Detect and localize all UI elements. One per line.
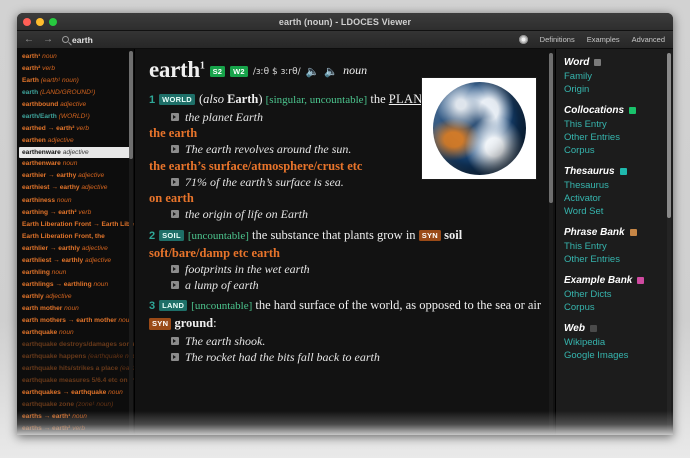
word-list-item-headword: earthly	[22, 293, 44, 300]
word-list-item[interactable]: earth¹ noun	[17, 51, 134, 63]
word-list-item[interactable]: earthbound adjective	[17, 99, 134, 111]
play-example-icon[interactable]	[171, 265, 179, 273]
word-list-item-headword: earthing → earth²	[22, 209, 77, 216]
word-list-item-selected[interactable]: earthenware adjective	[19, 147, 130, 158]
example-text: footprints in the wet earth	[185, 261, 310, 277]
sidebar-scrollbar[interactable]	[129, 51, 133, 433]
sidebar-scrollbar-thumb[interactable]	[129, 51, 133, 159]
word-list-item-pos: adjective	[58, 101, 86, 108]
collocation: soft/bare/damp etc earth	[149, 245, 545, 261]
word-list-item-headword: earth/Earth	[22, 113, 57, 120]
pronunciation: /ɜːθ $ ɜːrθ/	[253, 67, 301, 77]
word-list-item-pos: adjective	[76, 172, 104, 179]
word-list-item-pos: (earth¹ noun)	[39, 77, 79, 84]
resource-group-title: Example Bank	[564, 275, 673, 286]
resource-link[interactable]: Other Dicts	[564, 288, 673, 301]
word-list-item[interactable]: earth mothers → earth mother noun	[17, 315, 134, 327]
play-example-icon[interactable]	[171, 145, 179, 153]
content-scrollbar[interactable]	[549, 53, 553, 431]
word-list-item-headword: earthliest → earthly	[22, 257, 83, 264]
resource-groups: WordFamilyOriginCollocationsThis EntryOt…	[564, 57, 673, 362]
word-list-item-headword: earthquake zone	[22, 401, 74, 408]
word-list-item[interactable]: earth² verb	[17, 63, 134, 75]
word-list-item-pos: verb	[77, 209, 92, 216]
word-list-item[interactable]: earth/Earth (WORLD¹)	[17, 111, 134, 123]
word-list-item[interactable]: Earth Liberation Front, the	[17, 231, 134, 243]
word-list-item[interactable]: earthly adjective	[17, 291, 134, 303]
word-list-item-headword: earthiness	[22, 197, 55, 204]
word-list-item[interactable]: earthiness noun	[17, 195, 134, 207]
toolbar-right: Definitions Examples Advanced	[519, 35, 665, 44]
word-list-item-headword: earthlings → earthling	[22, 281, 92, 288]
window-title: earth (noun) - LDOCES Viewer	[17, 13, 673, 31]
sense-number: 2	[149, 230, 155, 242]
word-list-item-pos: noun	[106, 389, 123, 396]
word-list-item-pos: verb	[40, 65, 55, 72]
word-list-item-headword: earth²	[22, 65, 40, 72]
word-list-item[interactable]: earths → earth² verb	[17, 423, 134, 435]
word-list-item-headword: Earth	[22, 77, 39, 84]
resource-link[interactable]: Corpus	[564, 301, 673, 314]
sense-number: 1	[149, 94, 155, 106]
example-sentence: The earth shook.	[171, 333, 545, 349]
word-list-item[interactable]: earthquakes → earthquake noun	[17, 387, 134, 399]
sense-number: 3	[149, 300, 155, 312]
maximize-button[interactable]	[49, 18, 57, 26]
word-list-item[interactable]: earthlings → earthling noun	[17, 279, 134, 291]
word-list-item-headword: earthier → earthy	[22, 172, 76, 179]
app-window: earth (noun) - LDOCES Viewer ← → earth D…	[17, 13, 673, 435]
resource-link[interactable]: Other Entries	[564, 131, 673, 144]
search-input-value[interactable]: earth	[72, 35, 93, 45]
word-list-item[interactable]: earth mother noun	[17, 303, 134, 315]
minimize-button[interactable]	[36, 18, 44, 26]
resource-link[interactable]: Activator	[564, 192, 673, 205]
resource-group-swatch-icon	[629, 107, 636, 114]
word-list-item[interactable]: earthquake destroys/damages something	[17, 339, 134, 351]
play-example-icon[interactable]	[171, 281, 179, 289]
word-list-item-headword: earthquake measures 5/6.4 etc on the R	[22, 377, 134, 384]
word-list-item-pos: noun	[57, 329, 74, 336]
resource-link[interactable]: Other Entries	[564, 253, 673, 266]
resource-group-swatch-icon	[590, 325, 597, 332]
sense-topic-label: LAND	[159, 300, 187, 311]
word-list-item-headword: earthquakes → earthquake	[22, 389, 106, 396]
word-list-item-pos: verb	[70, 425, 85, 432]
word-list-item-pos: adjective	[61, 149, 89, 156]
resource-group-swatch-icon	[637, 277, 644, 284]
word-list-item-pos: noun	[92, 281, 109, 288]
resource-link[interactable]: Word Set	[564, 205, 673, 218]
resource-group-title: Collocations	[564, 105, 673, 116]
example-text: 71% of the earth’s surface is sea.	[185, 174, 344, 190]
word-list-item-pos: adjective	[46, 137, 74, 144]
window-controls	[23, 18, 57, 26]
word-list-item-pos: (earthquake noun)	[86, 353, 134, 360]
word-list-item-pos: noun	[61, 160, 78, 167]
resource-group-label: Collocations	[564, 105, 624, 116]
resource-group-label: Web	[564, 323, 585, 334]
entry-content: earth1 S2 W2 /ɜːθ $ ɜːrθ/ 🔈 🔈 noun 1 WOR…	[135, 49, 555, 435]
resource-group-swatch-icon	[620, 168, 627, 175]
example-text: the origin of life on Earth	[185, 206, 308, 222]
word-list-item-pos: adjective	[83, 257, 111, 264]
resources-panel: WordFamilyOriginCollocationsThis EntryOt…	[555, 49, 673, 435]
title-bar: earth (noun) - LDOCES Viewer	[17, 13, 673, 31]
example-sentence: the origin of life on Earth	[171, 206, 545, 222]
sense-topic-label: WORLD	[159, 94, 195, 105]
badge-s2: S2	[210, 66, 226, 77]
sense-grammar: [uncountable]	[191, 300, 252, 312]
word-list-item[interactable]: earthiest → earthy adjective	[17, 182, 134, 194]
word-list-item-headword: earth	[22, 89, 38, 96]
word-list-item[interactable]: earthquake hits/strikes a place (earthqu…	[17, 363, 134, 375]
word-list-item-headword: earths → earth¹	[22, 413, 70, 420]
resource-group-label: Example Bank	[564, 275, 632, 286]
word-list-item-headword: earthen	[22, 137, 46, 144]
panel-scrollbar-thumb[interactable]	[667, 53, 671, 218]
word-list-item-headword: earthling	[22, 269, 50, 276]
example-sentence: a lump of earth	[171, 277, 545, 293]
word-list-item-headword: earthiest → earthy	[22, 184, 80, 191]
resource-link[interactable]: Google Images	[564, 349, 673, 362]
word-list-item[interactable]: earthquake zone (zone¹ noun)	[17, 399, 134, 411]
word-list-item-pos: adjective	[80, 245, 108, 252]
play-example-icon[interactable]	[171, 113, 179, 121]
word-list-item-headword: earthenware	[22, 149, 61, 156]
word-list-item[interactable]: earthenware noun	[17, 158, 134, 170]
example-text: the planet Earth	[185, 109, 263, 125]
resource-link[interactable]: This Entry	[564, 240, 673, 253]
resource-link[interactable]: Origin	[564, 83, 673, 96]
word-list-item[interactable]: earthquake measures 5/6.4 etc on the R	[17, 375, 134, 387]
word-list-item-headword: earthquake destroys/damages something	[22, 341, 134, 348]
word-list-item-headword: earthed → earth²	[22, 125, 74, 132]
play-example-icon[interactable]	[171, 178, 179, 186]
resource-group-title: Thesaurus	[564, 166, 673, 177]
resource-link[interactable]: Wikipedia	[564, 336, 673, 349]
forward-arrow-icon[interactable]: →	[43, 35, 53, 45]
sense: 2 SOIL [uncountable] the substance that …	[149, 226, 545, 294]
word-list-item-pos: adjective	[44, 293, 72, 300]
entry-image	[421, 77, 537, 180]
word-list-item[interactable]: earthed → earth² verb	[17, 123, 134, 135]
example-text: The earth shook.	[185, 333, 265, 349]
toolbar: ← → earth Definitions Examples Advanced	[17, 31, 673, 49]
earth-globe-photo	[433, 82, 526, 175]
resource-group: Phrase BankThis EntryOther Entries	[564, 227, 673, 266]
word-list-sidebar[interactable]: earth¹ nounearth² verbEarth (earth¹ noun…	[17, 49, 135, 435]
back-arrow-icon[interactable]: ←	[24, 35, 34, 45]
resource-group-title: Word	[564, 57, 673, 68]
word-list-item-headword: earthquake hits/strikes a place	[22, 365, 118, 372]
headword: earth1	[149, 57, 205, 83]
resource-group-swatch-icon	[594, 59, 601, 66]
resource-group: WordFamilyOrigin	[564, 57, 673, 96]
nav-buttons: ← →	[24, 35, 53, 45]
resource-group-label: Phrase Bank	[564, 227, 625, 238]
example-text: a lump of earth	[185, 277, 259, 293]
search-icon	[62, 36, 69, 43]
toolbar-link-advanced[interactable]: Advanced	[632, 35, 665, 44]
panel-scrollbar[interactable]	[667, 53, 671, 431]
resource-group: WebWikipediaGoogle Images	[564, 323, 673, 362]
play-example-icon[interactable]	[171, 210, 179, 218]
word-list-item-headword: earthlier → earthly	[22, 245, 80, 252]
word-list-item-pos: (zone¹ noun)	[74, 401, 113, 408]
sense-header: 3 LAND [uncountable] the hard surface of…	[149, 296, 545, 332]
sense-header: 2 SOIL [uncountable] the substance that …	[149, 226, 545, 244]
word-list-item-pos: noun	[50, 269, 67, 276]
example-text: The earth revolves around the sun.	[185, 141, 351, 157]
word-list-item-headword: Earth Liberation Front → Earth Liberati	[22, 221, 134, 228]
word-list-item-headword: earth mothers → earth mother	[22, 317, 117, 324]
sense-grammar: [uncountable]	[188, 230, 249, 242]
gear-icon[interactable]	[519, 35, 528, 44]
resource-group: CollocationsThis EntryOther EntriesCorpu…	[564, 105, 673, 157]
word-list-item[interactable]: earthquake happens (earthquake noun)	[17, 351, 134, 363]
example-text: The rocket had the bits fall back to ear…	[185, 349, 380, 365]
word-list-item-headword: earthbound	[22, 101, 58, 108]
example-sentence: footprints in the wet earth	[171, 261, 545, 277]
word-list-item-pos: verb	[74, 125, 89, 132]
word-list-item-headword: earth¹	[22, 53, 40, 60]
resource-group: Example BankOther DictsCorpus	[564, 275, 673, 314]
word-list-item-headword: earthquake happens	[22, 353, 86, 360]
word-list-item[interactable]: earthliest → earthly adjective	[17, 255, 134, 267]
search-field[interactable]: earth	[62, 35, 93, 45]
window-body: earth¹ nounearth² verbEarth (earth¹ noun…	[17, 49, 673, 435]
resource-group-swatch-icon	[630, 229, 637, 236]
word-list-item-pos: adjective	[80, 184, 108, 191]
word-list-item[interactable]: Earth (earth¹ noun)	[17, 75, 134, 87]
toolbar-link-examples[interactable]: Examples	[587, 35, 620, 44]
word-list-item[interactable]: earthier → earthy adjective	[17, 170, 134, 182]
word-list-item-headword: earth mother	[22, 305, 62, 312]
resource-group-title: Web	[564, 323, 673, 334]
word-list-item[interactable]: earthing → earth² verb	[17, 207, 134, 219]
content-scrollbar-thumb[interactable]	[549, 53, 553, 203]
word-list[interactable]: earth¹ nounearth² verbEarth (earth¹ noun…	[17, 51, 134, 435]
sense-definition: [uncountable] the substance that plants …	[188, 228, 462, 242]
word-list-item-headword: Earth Liberation Front, the	[22, 233, 105, 240]
sense-topic-label: SOIL	[159, 230, 184, 241]
speaker-british-icon[interactable]: 🔈	[306, 67, 320, 78]
word-list-item-pos: noun	[55, 197, 72, 204]
sense-definition: [uncountable] the hard surface of the wo…	[149, 298, 541, 330]
sense-also: (also Earth)	[199, 92, 266, 106]
screenshot-root: earth (noun) - LDOCES Viewer ← → earth D…	[0, 0, 690, 458]
resource-link[interactable]: This Entry	[564, 118, 673, 131]
badge-w2: W2	[230, 66, 248, 77]
word-list-item-pos: (LAND/GROUND¹)	[38, 89, 95, 96]
resource-group-label: Word	[564, 57, 589, 68]
word-list-item[interactable]: Earth Liberation Front → Earth Liberati	[17, 219, 134, 231]
word-list-item[interactable]: earthlier → earthly adjective	[17, 243, 134, 255]
resource-group: ThesaurusThesaurusActivatorWord Set	[564, 166, 673, 218]
word-list-item-pos: noun	[62, 305, 79, 312]
resource-link[interactable]: Family	[564, 70, 673, 83]
word-list-item-pos: noun	[40, 53, 57, 60]
word-list-item-headword: earthquake	[22, 329, 57, 336]
close-button[interactable]	[23, 18, 31, 26]
resource-group-title: Phrase Bank	[564, 227, 673, 238]
headword-homograph: 1	[200, 60, 205, 71]
sense-grammar: [singular, uncountable]	[266, 94, 368, 106]
collocation: on earth	[149, 190, 545, 206]
toolbar-link-definitions[interactable]: Definitions	[540, 35, 575, 44]
word-list-item[interactable]: earth (LAND/GROUND¹)	[17, 87, 134, 99]
word-list-item-pos: (WORLD¹)	[57, 113, 90, 120]
word-list-item[interactable]: earthling noun	[17, 267, 134, 279]
play-example-icon[interactable]	[171, 337, 179, 345]
example-sentence: The rocket had the bits fall back to ear…	[171, 349, 545, 365]
word-list-item[interactable]: earthen adjective	[17, 135, 134, 147]
sense: 3 LAND [uncountable] the hard surface of…	[149, 296, 545, 365]
speaker-american-icon[interactable]: 🔈	[324, 67, 338, 78]
resource-link[interactable]: Thesaurus	[564, 179, 673, 192]
word-list-item[interactable]: earths → earth¹ noun	[17, 411, 134, 423]
word-list-item[interactable]: earthquake noun	[17, 327, 134, 339]
word-list-item-pos: noun	[70, 413, 87, 420]
resource-link[interactable]: Corpus	[564, 144, 673, 157]
play-example-icon[interactable]	[171, 353, 179, 361]
word-list-item-headword: earthenware	[22, 160, 61, 167]
part-of-speech: noun	[343, 63, 367, 78]
word-list-item-headword: earths → earth²	[22, 425, 70, 432]
resource-group-label: Thesaurus	[564, 166, 615, 177]
